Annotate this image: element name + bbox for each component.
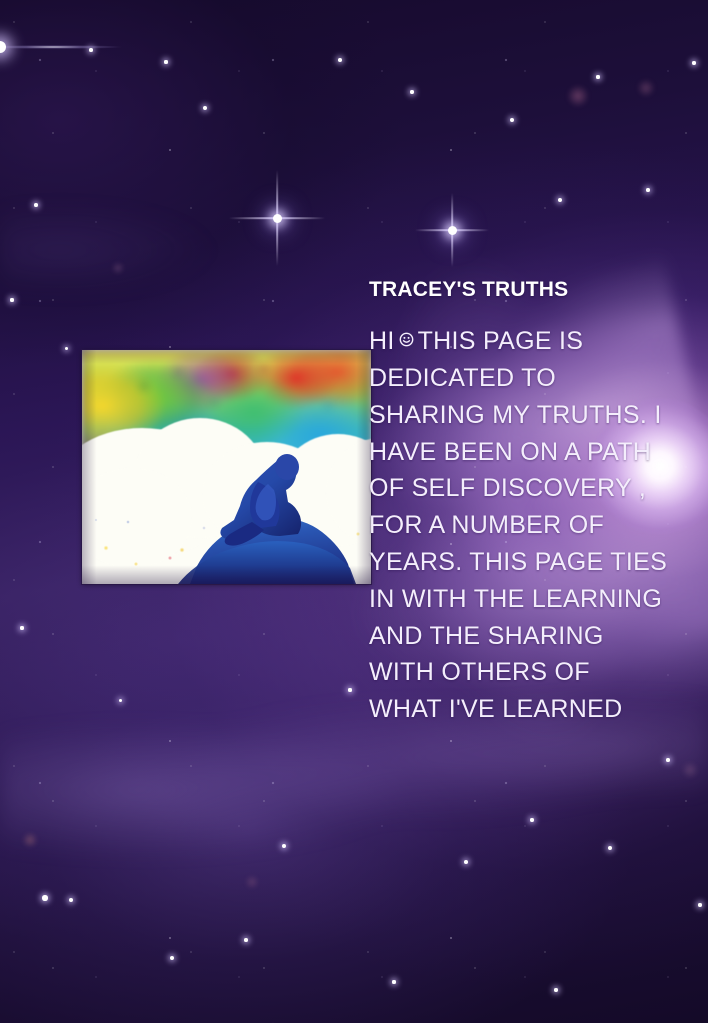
body-copy-rest: THIS PAGE IS DEDICATED TO SHARING MY TRU…: [369, 327, 667, 723]
galaxy-quote-page: TRACEY'S TRUTHS HITHIS PAGE IS DEDICATED…: [0, 0, 708, 1023]
body-copy: HITHIS PAGE IS DEDICATED TO SHARING MY T…: [369, 323, 699, 728]
page-title: TRACEY'S TRUTHS: [369, 277, 699, 302]
smiley-face-icon: [399, 332, 414, 347]
artwork-vignette: [82, 350, 371, 584]
text-block: TRACEY'S TRUTHS HITHIS PAGE IS DEDICATED…: [369, 277, 699, 728]
artwork-figure: [82, 350, 371, 584]
watercolor-artwork-image: [82, 350, 371, 584]
body-copy-lead: HI: [369, 327, 395, 355]
page-content: TRACEY'S TRUTHS HITHIS PAGE IS DEDICATED…: [0, 0, 708, 1023]
